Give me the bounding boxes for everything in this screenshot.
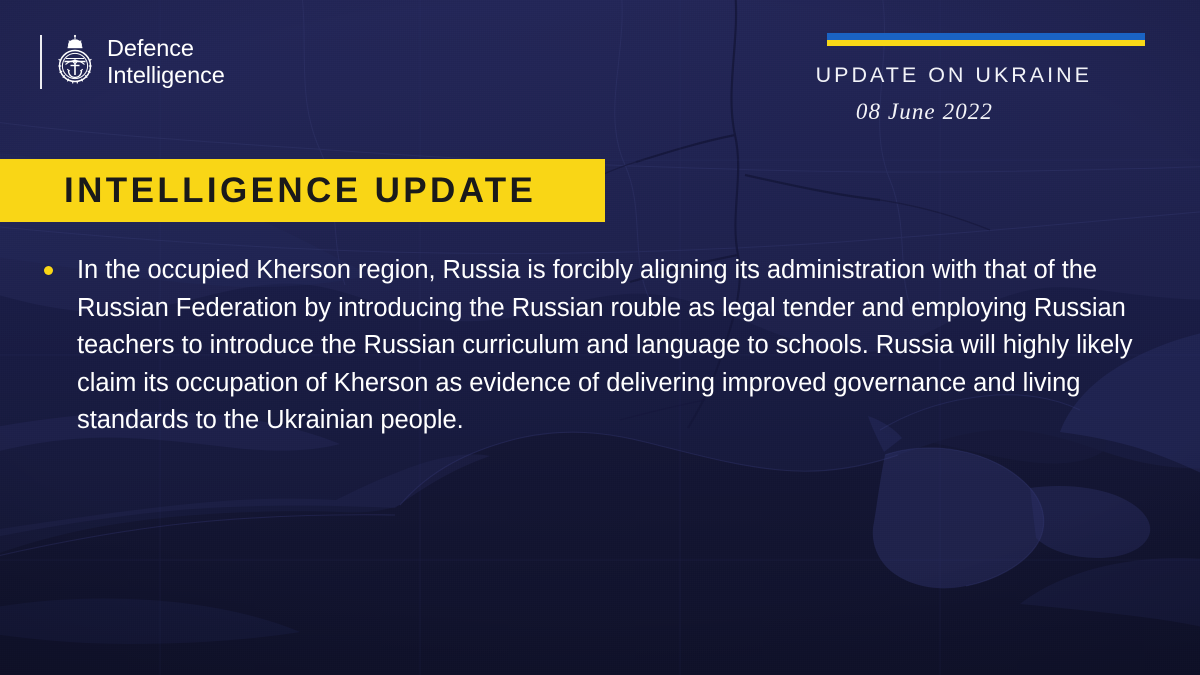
intelligence-update-banner: INTELLIGENCE UPDATE — [0, 159, 605, 222]
logo-wordmark: Defence Intelligence — [107, 35, 225, 89]
banner-label: INTELLIGENCE UPDATE — [64, 171, 536, 211]
intelligence-update-poster: Defence Intelligence UPDATE ON UKRAINE 0… — [0, 0, 1200, 675]
flag-stripe-yellow — [827, 40, 1145, 46]
update-on-ukraine-title: UPDATE ON UKRAINE — [815, 63, 1092, 88]
bullet-dot-icon — [44, 266, 53, 275]
body-bullet-item: In the occupied Kherson region, Russia i… — [44, 252, 1154, 440]
logo-divider-rule — [40, 35, 42, 89]
defence-intelligence-crest-icon — [53, 34, 97, 90]
logo-line-intelligence: Intelligence — [107, 62, 225, 89]
flag-stripe-blue — [827, 33, 1145, 40]
logo-line-defence: Defence — [107, 35, 225, 62]
body-paragraph: In the occupied Kherson region, Russia i… — [77, 252, 1142, 440]
header-right-block: UPDATE ON UKRAINE 08 June 2022 — [815, 33, 1145, 125]
ukraine-flag-bar — [827, 33, 1145, 46]
defence-intelligence-logo: Defence Intelligence — [40, 32, 225, 92]
update-date: 08 June 2022 — [815, 99, 993, 125]
